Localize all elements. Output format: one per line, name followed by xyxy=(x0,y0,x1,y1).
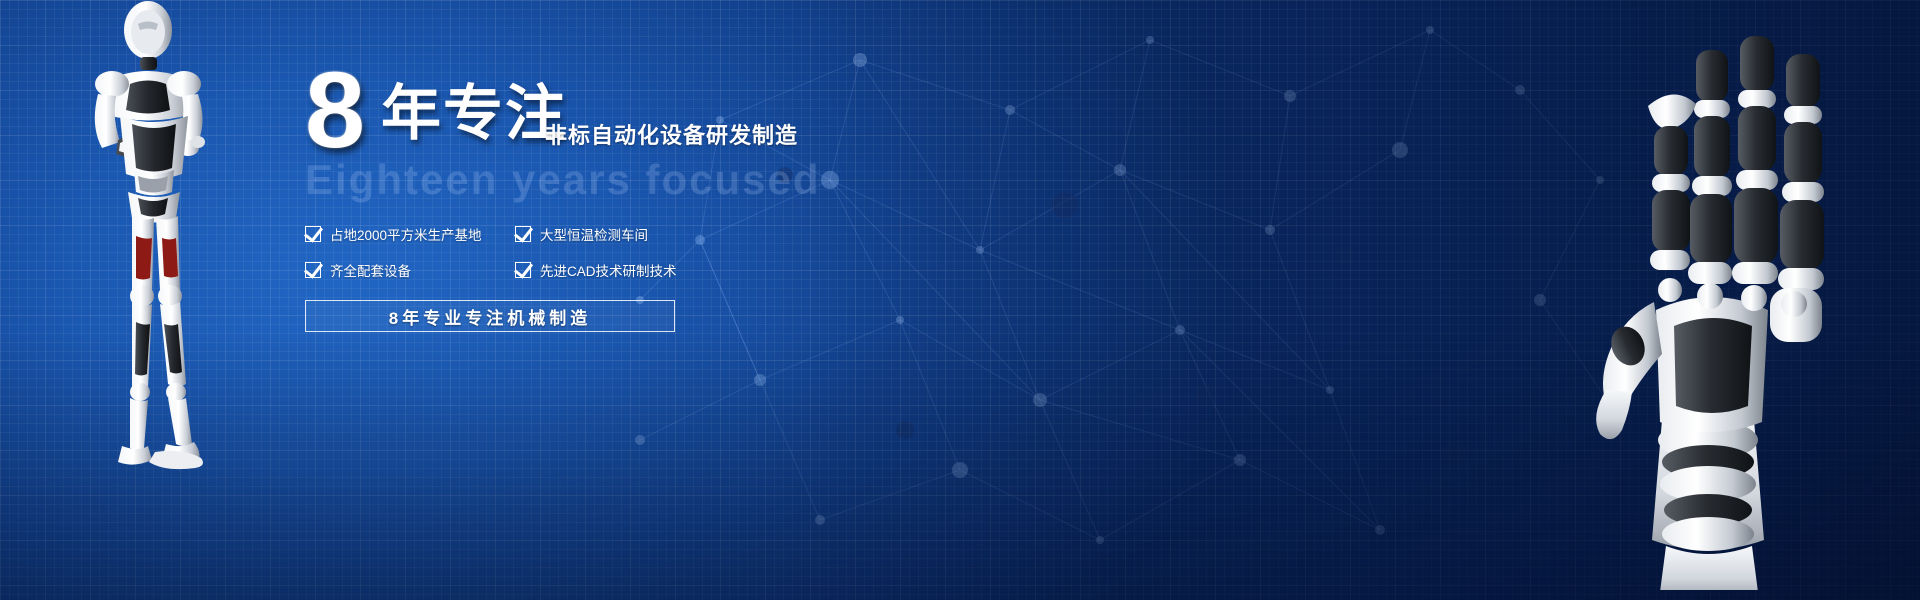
check-icon xyxy=(515,262,531,278)
banner-content: 8 年专注 非标自动化设备研发制造 Eighteen years focused… xyxy=(305,70,925,332)
list-item-label: 占地2000平方米生产基地 xyxy=(330,224,482,244)
feature-list: 占地2000平方米生产基地 大型恒温检测车间 齐全配套设备 先进CAD技术研制技… xyxy=(305,224,745,280)
list-item-label: 大型恒温检测车间 xyxy=(540,224,648,244)
headline-number: 8 xyxy=(305,56,363,164)
headline: 8 年专注 非标自动化设备研发制造 xyxy=(305,70,925,150)
list-item: 占地2000平方米生产基地 xyxy=(305,224,515,244)
check-icon xyxy=(305,226,321,242)
list-item-label: 先进CAD技术研制技术 xyxy=(540,260,677,280)
headline-subtitle: 非标自动化设备研发制造 xyxy=(545,118,798,150)
promo-banner: 8 年专注 非标自动化设备研发制造 Eighteen years focused… xyxy=(0,0,1920,600)
list-item-label: 齐全配套设备 xyxy=(330,260,411,280)
cta-button-label: 8年专业专注机械制造 xyxy=(389,304,591,329)
cta-button[interactable]: 8年专业专注机械制造 xyxy=(305,300,675,332)
check-icon xyxy=(305,262,321,278)
headline-text: 年专注 xyxy=(381,84,567,144)
robotic-hand-icon xyxy=(1550,10,1910,590)
list-item: 齐全配套设备 xyxy=(305,260,515,280)
check-icon xyxy=(515,226,531,242)
list-item: 大型恒温检测车间 xyxy=(515,224,725,244)
humanoid-robot-figure-icon xyxy=(60,0,270,495)
list-item: 先进CAD技术研制技术 xyxy=(515,260,725,280)
ghost-tagline: Eighteen years focused xyxy=(305,158,925,202)
